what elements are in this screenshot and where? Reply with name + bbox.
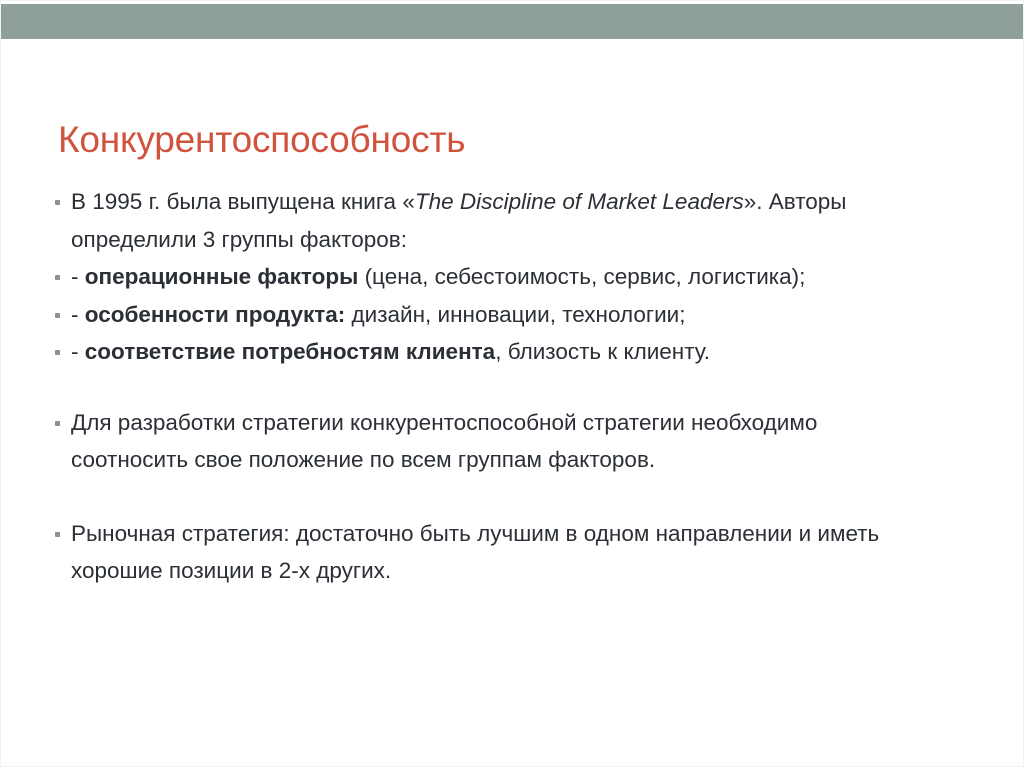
list-item: Для разработки стратегии конкурентоспосо… [45, 404, 975, 479]
list-item: Рыночная стратегия: достаточно быть лучш… [45, 515, 975, 590]
bullet-dot-icon [45, 515, 71, 544]
bullet-dot-icon [45, 296, 71, 325]
section-spacer [45, 371, 975, 404]
bullet-list: В 1995 г. была выпущена книга «The Disci… [45, 183, 975, 590]
slide: Конкурентоспособность В 1995 г. была вып… [0, 0, 1024, 767]
bullet-dot-icon [45, 333, 71, 362]
list-item: В 1995 г. была выпущена книга «The Disci… [45, 183, 975, 258]
page-title: Конкурентоспособность [58, 118, 465, 162]
bullet-text-book-reference: В 1995 г. была выпущена книга «The Disci… [71, 183, 911, 258]
bullet-text-operational-factors: - операционные факторы (цена, себестоимо… [71, 258, 911, 296]
bullet-dot-icon [45, 258, 71, 287]
bullet-dot-icon [45, 404, 71, 433]
bullet-dot-icon [45, 183, 71, 212]
bullet-text-customer-needs: - соответствие потребностям клиента, бли… [71, 333, 975, 371]
bullet-text-strategy-development: Для разработки стратегии конкурентоспосо… [71, 404, 911, 479]
section-spacer [45, 479, 975, 515]
list-item: - операционные факторы (цена, себестоимо… [45, 258, 975, 296]
list-item: - соответствие потребностям клиента, бли… [45, 333, 975, 371]
bullet-text-market-strategy: Рыночная стратегия: достаточно быть лучш… [71, 515, 911, 590]
top-decorative-band [1, 4, 1024, 39]
list-item: - особенности продукта: дизайн, инноваци… [45, 296, 975, 334]
bullet-text-product-features: - особенности продукта: дизайн, инноваци… [71, 296, 975, 334]
